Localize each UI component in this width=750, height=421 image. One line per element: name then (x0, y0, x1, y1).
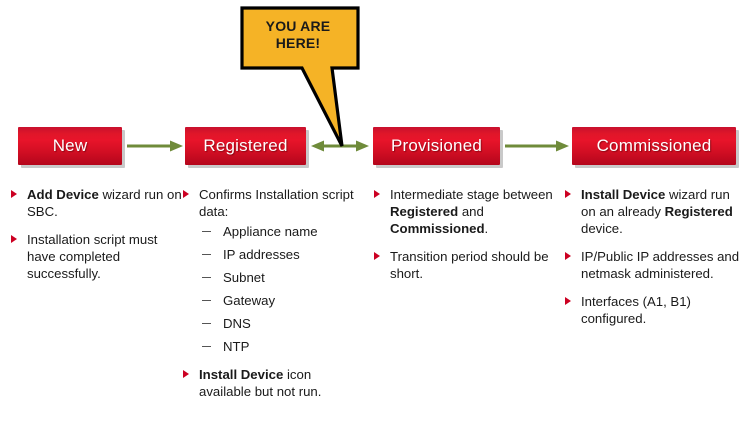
bullet-text-span: Intermediate stage between (390, 187, 553, 202)
sub-bullet-item: IP addresses (199, 246, 360, 263)
callout-text: YOU ARE HERE! (240, 18, 356, 52)
bullet-column-provisioned: Intermediate stage between Registered an… (371, 186, 553, 293)
dash-bullet-icon (202, 277, 211, 278)
bullet-item: Add Device wizard run on SBC. (8, 186, 184, 220)
bullet-item: Transition period should be short. (371, 248, 553, 282)
bullet-text-span: device. (581, 221, 623, 236)
bullet-text-span: Interfaces (A1, B1) configured. (581, 294, 691, 326)
stage-label-commissioned: Commissioned (597, 136, 712, 156)
connector-new-to-registered (126, 139, 184, 153)
bullet-text: Interfaces (A1, B1) configured. (581, 294, 691, 326)
sub-bullet-item: DNS (199, 315, 360, 332)
bullet-text: Add Device wizard run on SBC. (27, 187, 182, 219)
bullet-text: Installation script must have completed … (27, 232, 157, 281)
dash-bullet-icon (202, 300, 211, 301)
dash-bullet-icon (202, 231, 211, 232)
sub-bullet-text: NTP (223, 339, 249, 354)
callout-line-1: YOU ARE (240, 18, 356, 35)
sub-bullet-text: IP addresses (223, 247, 300, 262)
bullet-text-span: and (458, 204, 484, 219)
triangle-bullet-icon (565, 252, 571, 260)
bullet-text: Transition period should be short. (390, 249, 549, 281)
triangle-bullet-icon (11, 235, 17, 243)
bullet-text: Install Device wizard run on an already … (581, 187, 733, 236)
stage-box-commissioned[interactable]: Commissioned (572, 127, 736, 165)
sub-bullet-text: DNS (223, 316, 251, 331)
bullet-item: Intermediate stage between Registered an… (371, 186, 553, 237)
triangle-bullet-icon (565, 190, 571, 198)
bullet-column-registered: Confirms Installation script data:Applia… (180, 186, 360, 411)
bullet-text: IP/Public IP addresses and netmask admin… (581, 249, 739, 281)
sub-bullet-text: Subnet (223, 270, 265, 285)
bullet-text-strong: Registered (390, 204, 458, 219)
bullet-text: Confirms Installation script data: (199, 187, 354, 219)
bullet-text-span: Installation script must have completed … (27, 232, 157, 281)
bullet-text-strong: Registered (665, 204, 733, 219)
sub-bullet-item: Appliance name (199, 223, 360, 240)
triangle-bullet-icon (565, 297, 571, 305)
bullet-item: IP/Public IP addresses and netmask admin… (562, 248, 748, 282)
bullet-text-span: Confirms Installation script data: (199, 187, 354, 219)
stage-label-provisioned: Provisioned (391, 136, 482, 156)
lifecycle-diagram: New Registered Provisioned Commissioned (0, 0, 750, 421)
bullet-text: Install Device icon available but not ru… (199, 367, 321, 399)
bullet-item: Confirms Installation script data:Applia… (180, 186, 360, 355)
stage-label-new: New (53, 136, 88, 156)
bullet-item: Installation script must have completed … (8, 231, 184, 282)
sub-bullet-item: Gateway (199, 292, 360, 309)
triangle-bullet-icon (183, 190, 189, 198)
bullet-item: Interfaces (A1, B1) configured. (562, 293, 748, 327)
triangle-bullet-icon (374, 190, 380, 198)
sub-bullet-item: NTP (199, 338, 360, 355)
stage-box-provisioned[interactable]: Provisioned (373, 127, 500, 165)
triangle-bullet-icon (374, 252, 380, 260)
sub-bullet-text: Appliance name (223, 224, 318, 239)
bullet-column-commissioned: Install Device wizard run on an already … (562, 186, 748, 338)
bullet-column-new: Add Device wizard run on SBC.Installatio… (8, 186, 184, 293)
you-are-here-callout: YOU ARE HERE! (240, 6, 360, 148)
callout-line-2: HERE! (240, 35, 356, 52)
sub-bullet-item: Subnet (199, 269, 360, 286)
triangle-bullet-icon (11, 190, 17, 198)
sub-bullet-list: Appliance nameIP addressesSubnetGatewayD… (199, 223, 360, 355)
bullet-text-strong: Commissioned (390, 221, 485, 236)
triangle-bullet-icon (183, 370, 189, 378)
bullet-item: Install Device icon available but not ru… (180, 366, 360, 400)
dash-bullet-icon (202, 254, 211, 255)
bullet-text-span: . (485, 221, 489, 236)
dash-bullet-icon (202, 323, 211, 324)
dash-bullet-icon (202, 346, 211, 347)
sub-bullet-text: Gateway (223, 293, 275, 308)
stage-box-new[interactable]: New (18, 127, 122, 165)
bullet-text-span: IP/Public IP addresses and netmask admin… (581, 249, 739, 281)
bullet-item: Install Device wizard run on an already … (562, 186, 748, 237)
bullet-text-strong: Install Device (581, 187, 665, 202)
bullet-text-strong: Install Device (199, 367, 283, 382)
bullet-text-span: Transition period should be short. (390, 249, 549, 281)
bullet-text-strong: Add Device (27, 187, 99, 202)
bullet-text: Intermediate stage between Registered an… (390, 187, 553, 236)
connector-provisioned-to-commissioned (504, 139, 570, 153)
